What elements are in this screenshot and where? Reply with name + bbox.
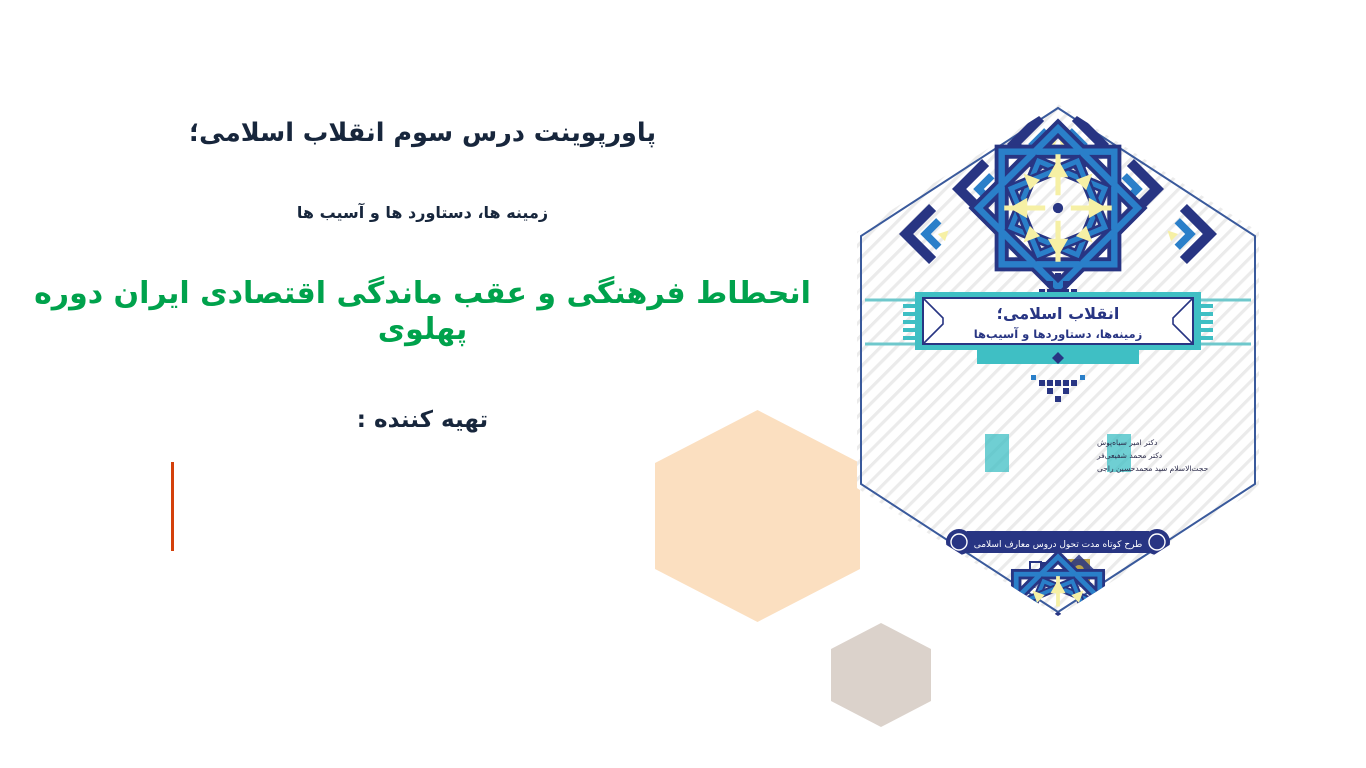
cover-subtitle: زمینه‌ها، دستاوردها و آسیب‌ها xyxy=(974,327,1143,342)
orange-accent-rule xyxy=(171,462,174,551)
cover-author-3: حجت‌الاسلام سید محمدحسین راجی xyxy=(1097,464,1209,473)
cover-author-1: دکتر امیر سیاه‌پوش xyxy=(1097,438,1157,447)
slide-canvas: پاورپوینت درس سوم انقلاب اسلامی؛ زمینه ه… xyxy=(0,0,1366,768)
cover-title: انقلاب اسلامی؛ xyxy=(997,304,1120,323)
decorative-hexagon-orange xyxy=(655,410,860,622)
page-subtitle: زمینه ها، دستاورد ها و آسیب ها xyxy=(0,150,845,224)
slide-text-block: پاورپوینت درس سوم انقلاب اسلامی؛ زمینه ه… xyxy=(0,118,845,434)
book-cover-artwork: انقلاب اسلامی؛ زمینه‌ها، دستاوردها و آسی… xyxy=(857,104,1259,616)
author-label: تهیه کننده : xyxy=(0,349,845,435)
book-cover-image: انقلاب اسلامی؛ زمینه‌ها، دستاوردها و آسی… xyxy=(857,104,1259,616)
cover-banner-text: طرح کوتاه مدت تحول دروس معارف اسلامی xyxy=(974,540,1143,550)
cover-author-2: دکتر محمد شفیعی‌فر xyxy=(1096,451,1162,460)
decorative-hexagon-gray xyxy=(831,623,931,727)
page-title: پاورپوینت درس سوم انقلاب اسلامی؛ xyxy=(0,118,845,150)
star-ornament-top xyxy=(978,128,1137,287)
lesson-heading: انحطاط فرهنگی و عقب ماندگی اقتصادی ایران… xyxy=(0,224,845,349)
